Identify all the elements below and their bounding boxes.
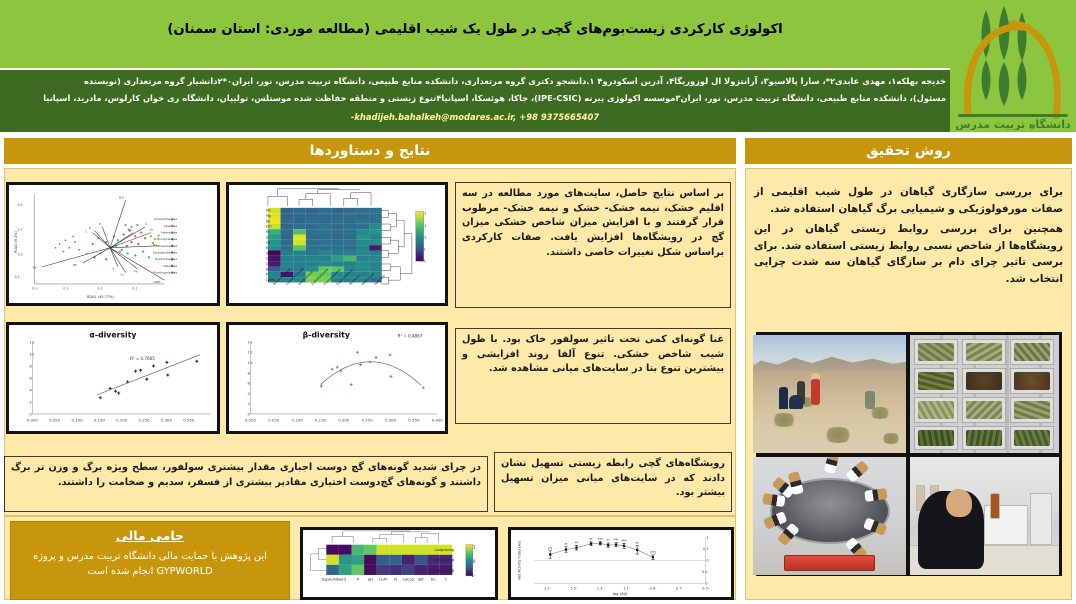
svg-text:0.250: 0.250: [362, 418, 374, 423]
svg-text:(*): (*): [548, 547, 552, 551]
svg-text:Ca: Ca: [150, 228, 154, 232]
svg-text:Amaranthaceae: Amaranthaceae: [154, 217, 177, 221]
svg-text:0.350: 0.350: [408, 418, 420, 423]
svg-text:P: P: [266, 273, 268, 277]
results-text-block-2: غنا گونه‌ای کمی تحت تاثیر سولفور خاک بود…: [455, 328, 731, 424]
svg-text:-0.1: -0.1: [63, 287, 69, 291]
university-logo: دانشگاه تربیت مدرس: [952, 2, 1074, 130]
results-text-block-1: بر اساس نتایج حاصل، سایت‌های مورد مطالعه…: [455, 182, 731, 308]
svg-text:Na: Na: [266, 219, 271, 223]
svg-text:0.100: 0.100: [292, 418, 304, 423]
svg-text:-0.5: -0.5: [702, 570, 710, 574]
page-title: اکولوژی کارکردی زیست‌بوم‌های گچی در طول …: [10, 22, 940, 37]
author-line-2: مسئول)، دانشکده منابع طبیعی، دانشگاه ترب…: [4, 92, 946, 104]
svg-text:0.000: 0.000: [245, 418, 257, 423]
svg-text:0.2: 0.2: [18, 203, 23, 207]
results-text-block-3: در چرای شدید گونه‌های گچ دوست اجباری مقد…: [4, 456, 488, 512]
svg-text:CLAY: CLAY: [379, 578, 389, 582]
funding-title: حامی مالی: [11, 528, 289, 543]
svg-text:0.050: 0.050: [49, 418, 61, 423]
svg-text:0.200: 0.200: [116, 418, 128, 423]
svg-text:0.0: 0.0: [18, 252, 23, 256]
svg-text:CaCo3: CaCo3: [403, 578, 414, 582]
svg-text:(**): (**): [650, 551, 656, 555]
chart-pca-biplot: -0.2-0.1 0.00.1 0.20.1 0.0-0.1 RDA1 (45.…: [6, 182, 220, 306]
svg-text:0.150: 0.150: [315, 418, 327, 423]
svg-text:***: ***: [598, 537, 603, 541]
photo-lab-weighing: [910, 457, 1059, 575]
svg-text:Caryophyllaceae: Caryophyllaceae: [153, 251, 177, 255]
svg-text:-1.7: -1.7: [544, 587, 552, 591]
svg-text:1: 1: [706, 536, 708, 540]
svg-text:-0.1: -0.1: [15, 275, 21, 279]
photo-soil-shaker: [753, 457, 906, 575]
svg-text:Lowgrazing: Lowgrazing: [435, 548, 455, 552]
svg-text:SLA: SLA: [119, 195, 124, 199]
svg-text:**: **: [575, 541, 579, 545]
svg-text:Brassicaceae: Brassicaceae: [158, 244, 177, 248]
scientific-poster: اکولوژی کارکردی زیست‌بوم‌های گچی در طول …: [0, 0, 1076, 604]
svg-text:0.150: 0.150: [94, 418, 106, 423]
chart-grazing-heatmap: LowgrazingHighgrazingMiddlegrazing Gypsu…: [300, 527, 498, 600]
svg-text:-1: -1: [423, 248, 426, 252]
svg-text:-1.3: -1.3: [597, 587, 605, 591]
svg-text:0: 0: [473, 559, 476, 564]
svg-text:0.350: 0.350: [183, 418, 195, 423]
logo-caption: دانشگاه تربیت مدرس: [955, 118, 1071, 130]
svg-text:1: 1: [473, 544, 476, 549]
svg-text:Net Activity Index (Aij): Net Activity Index (Aij): [518, 540, 522, 580]
svg-text:Fabaceae: Fabaceae: [163, 264, 177, 268]
section-header-results: نتایج و دستاوردها: [4, 138, 736, 164]
svg-text:R² = 0.7665: R² = 0.7665: [130, 356, 155, 361]
svg-text:LDMC: LDMC: [153, 280, 161, 284]
svg-text:P: P: [357, 578, 359, 582]
svg-text:Mg: Mg: [153, 243, 157, 247]
svg-text:-1.5: -1.5: [570, 587, 578, 591]
svg-text:C: C: [85, 230, 87, 234]
svg-text:Fe: Fe: [266, 230, 270, 234]
svg-text:S: S: [344, 578, 346, 582]
chart-trait-heatmap: MnMgNaLThFeSCaKSLACuCNPLDMC Amaranthacea…: [226, 182, 448, 306]
svg-text:***: ***: [622, 539, 627, 543]
svg-text:α-diversity: α-diversity: [90, 330, 137, 339]
svg-text:Boraginaceae: Boraginaceae: [157, 237, 177, 241]
svg-text:0.300: 0.300: [385, 418, 397, 423]
svg-text:EC: EC: [431, 578, 436, 582]
photo-dried-plant-samples: [910, 335, 1059, 453]
method-photo-grid: [756, 332, 1062, 576]
funding-body: این پژوهش با حمایت مالی دانشگاه تربیت مد…: [11, 549, 289, 579]
svg-text:0.1: 0.1: [18, 228, 23, 232]
svg-text:0.200: 0.200: [338, 418, 350, 423]
svg-text:Highgrazing: Highgrazing: [433, 558, 454, 562]
chart-net-activity-index: 10.50-0.5-1 -1.7-1.5-1.3-1.1-0.9-0.7-0.5…: [508, 527, 734, 600]
svg-text:RDA1 (45.77%): RDA1 (45.77%): [87, 295, 114, 299]
svg-text:**: **: [636, 542, 640, 546]
method-paragraph-1: برای بررسی سازگاری گیاهان در طول شیب اقل…: [754, 184, 1063, 218]
svg-text:0.050: 0.050: [268, 418, 280, 423]
svg-text:LTh: LTh: [73, 263, 78, 267]
svg-text:0.1: 0.1: [132, 287, 137, 291]
svg-text:log (Aij): log (Aij): [613, 592, 628, 596]
svg-text:***: ***: [614, 538, 619, 542]
svg-text:β-diversity: β-diversity: [303, 330, 350, 339]
svg-text:-2: -2: [423, 259, 426, 263]
svg-text:Mg: Mg: [266, 214, 271, 218]
svg-text:-0.9: -0.9: [650, 587, 658, 591]
svg-text:1: 1: [425, 224, 427, 228]
svg-text:Asteraceae: Asteraceae: [161, 231, 178, 235]
svg-text:**: **: [607, 539, 611, 543]
svg-text:R² = 0.4867: R² = 0.4867: [398, 333, 423, 338]
svg-text:-0.2: -0.2: [32, 287, 38, 291]
svg-text:-1: -1: [471, 573, 476, 578]
svg-text:-1.1: -1.1: [623, 587, 631, 591]
svg-text:0.5: 0.5: [703, 547, 709, 551]
svg-text:0.100: 0.100: [71, 418, 83, 423]
method-paragraph-2: همچنین برای بررسی روابط زیستی گیاهان در …: [754, 221, 1063, 288]
chart-alpha-diversity: α-diversity 024681012 0.0000.0500.1000.1…: [6, 322, 220, 434]
svg-text:Ca: Ca: [266, 241, 270, 245]
svg-text:Plumbaginaceae: Plumbaginaceae: [153, 271, 177, 275]
section-header-method: روش تحقیق: [745, 138, 1072, 164]
svg-text:S: S: [266, 235, 268, 239]
svg-text:Euphorbiaceae: Euphorbiaceae: [155, 257, 177, 261]
author-email: -khadijeh.bahalkeh@modares.ac.ir, +98 93…: [4, 112, 946, 122]
svg-text:0: 0: [425, 235, 427, 239]
svg-text:Mn: Mn: [266, 209, 271, 213]
results-text-block-4: رویشگاه‌های گچی رابطه زیستی تسهیل نشان د…: [494, 452, 732, 512]
svg-text:0.000: 0.000: [27, 418, 39, 423]
svg-text:**: **: [589, 538, 593, 542]
svg-text:-0.5: -0.5: [702, 587, 710, 591]
chart-beta-diversity: β-diversity R² = 0.4867 02468101214 0.00…: [226, 322, 448, 434]
funding-box: حامی مالی این پژوهش با حمایت مالی دانشگا…: [10, 521, 290, 600]
svg-text:Cu: Cu: [266, 257, 270, 261]
svg-text:pH: pH: [368, 578, 373, 582]
svg-text:LTh: LTh: [266, 225, 271, 229]
svg-text:**: **: [564, 542, 568, 546]
svg-text:2: 2: [425, 212, 427, 216]
svg-text:0.300: 0.300: [161, 418, 173, 423]
svg-text:SLA: SLA: [266, 251, 273, 255]
svg-text:Apiaceae: Apiaceae: [164, 224, 178, 228]
svg-text:RDA2 (9.2%): RDA2 (9.2%): [14, 231, 18, 254]
svg-text:-0.7: -0.7: [676, 587, 684, 591]
author-line-1: خدیجه بهلکه۱، مهدی عابدی۲*، سارا پالاسیو…: [4, 75, 946, 87]
svg-text:Cu: Cu: [120, 272, 124, 276]
method-text-block: برای بررسی سازگاری گیاهان در طول شیب اقل…: [754, 184, 1063, 291]
svg-text:0.400: 0.400: [432, 418, 444, 423]
svg-text:0: 0: [706, 559, 708, 563]
svg-text:Silt: Silt: [418, 578, 424, 582]
svg-text:Na: Na: [33, 266, 37, 270]
svg-text:Middlegrazing: Middlegrazing: [430, 568, 454, 572]
photo-field-survey-team: [753, 335, 906, 453]
svg-text:0.250: 0.250: [139, 418, 151, 423]
svg-text:N: N: [89, 226, 91, 230]
svg-text:Mn: Mn: [128, 228, 132, 232]
svg-text:Gypsumdiad: Gypsumdiad: [322, 578, 344, 582]
svg-text:0.0: 0.0: [97, 287, 102, 291]
svg-text:Fe: Fe: [134, 270, 137, 274]
